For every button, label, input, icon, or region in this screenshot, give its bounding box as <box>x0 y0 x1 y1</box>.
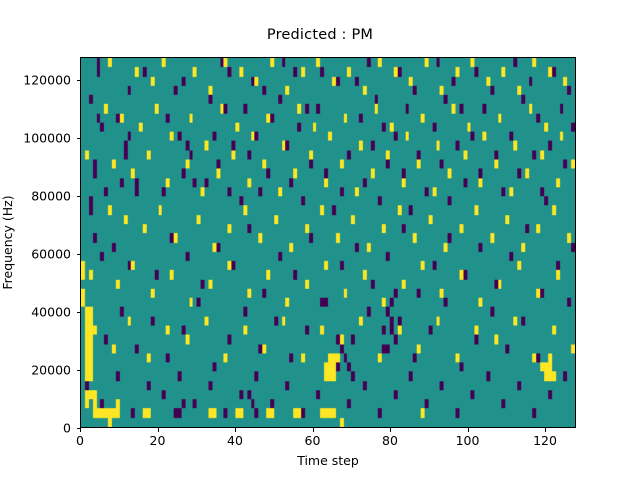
y-tick-label: 0 <box>63 421 71 436</box>
x-tick-mark <box>80 428 81 432</box>
x-tick-label: 80 <box>382 433 398 448</box>
figure: Predicted : PM 020406080100120 020000400… <box>0 0 640 480</box>
x-tick-mark <box>390 428 391 432</box>
x-tick-label: 20 <box>150 433 166 448</box>
heatmap-canvas <box>81 58 575 427</box>
x-tick-mark <box>158 428 159 432</box>
chart-title: Predicted : PM <box>0 27 640 43</box>
x-axis-label: Time step <box>80 453 576 468</box>
x-tick-mark <box>235 428 236 432</box>
x-tick-mark <box>545 428 546 432</box>
y-tick-mark <box>77 428 81 429</box>
y-tick-mark <box>77 312 81 313</box>
y-tick-mark <box>77 80 81 81</box>
heatmap-axes <box>80 57 576 428</box>
x-tick-label: 100 <box>456 433 480 448</box>
x-tick-mark <box>468 428 469 432</box>
y-tick-label: 120000 <box>23 73 71 88</box>
y-tick-label: 100000 <box>23 131 71 146</box>
y-tick-mark <box>77 196 81 197</box>
y-tick-mark <box>77 138 81 139</box>
x-tick-label: 60 <box>305 433 321 448</box>
x-tick-label: 40 <box>227 433 243 448</box>
y-tick-label: 80000 <box>31 189 71 204</box>
y-axis-label: Frequency (Hz) <box>0 57 14 428</box>
x-tick-label: 120 <box>533 433 557 448</box>
y-tick-label: 40000 <box>31 305 71 320</box>
y-tick-mark <box>77 370 81 371</box>
y-tick-label: 20000 <box>31 363 71 378</box>
y-tick-mark <box>77 254 81 255</box>
y-tick-label: 60000 <box>31 247 71 262</box>
x-tick-mark <box>313 428 314 432</box>
x-tick-label: 0 <box>76 433 84 448</box>
